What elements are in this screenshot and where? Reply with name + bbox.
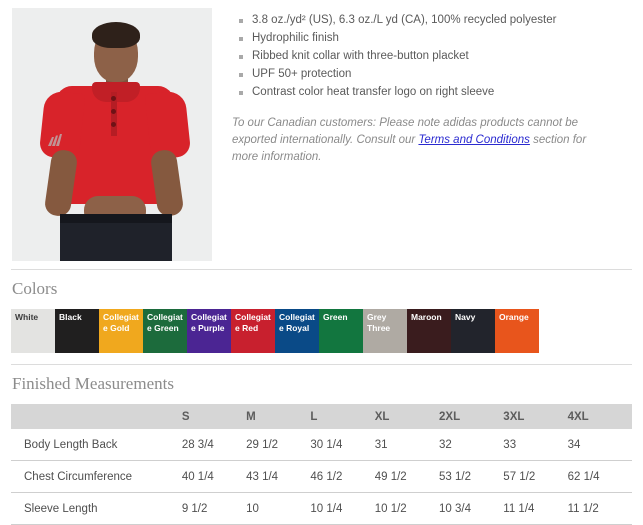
bullet-icon: [239, 19, 243, 23]
color-swatch-navy[interactable]: Navy: [451, 309, 495, 353]
bullet-icon: [239, 55, 243, 59]
cell-value: 49 1/2: [375, 461, 439, 493]
polo-button-3: [111, 122, 116, 127]
finished-measurements-table: S M L XL 2XL 3XL 4XL Body Length Back 28…: [11, 404, 632, 525]
cell-value: 57 1/2: [503, 461, 567, 493]
color-swatch-label: Maroon: [411, 312, 449, 323]
row-label: Chest Circumference: [11, 461, 182, 493]
measurements-heading: Finished Measurements: [12, 374, 643, 394]
column-header-s: S: [182, 404, 246, 429]
product-specs: 3.8 oz./yd² (US), 6.3 oz./L yd (CA), 100…: [212, 8, 643, 177]
cell-value: 43 1/4: [246, 461, 310, 493]
row-label: Sleeve Length: [11, 493, 182, 525]
row-label: Body Length Back: [11, 429, 182, 461]
color-swatch-label: Collegiate Gold: [103, 312, 141, 333]
cell-value: 10 3/4: [439, 493, 503, 525]
cell-value: 33: [503, 429, 567, 461]
table-row: Chest Circumference 40 1/4 43 1/4 46 1/2…: [11, 461, 632, 493]
color-swatch-row: White Black Collegiate Gold Collegiate G…: [11, 309, 643, 353]
column-header-measurement: [11, 404, 182, 429]
cell-value: 46 1/2: [310, 461, 374, 493]
cell-value: 11 1/2: [568, 493, 632, 525]
cell-value: 28 3/4: [182, 429, 246, 461]
column-header-m: M: [246, 404, 310, 429]
bullet-icon: [239, 37, 243, 41]
color-swatch-label: Collegiate Green: [147, 312, 185, 333]
color-swatch-label: White: [15, 312, 53, 323]
polo-button-1: [111, 96, 116, 101]
table-row: Sleeve Length 9 1/2 10 10 1/4 10 1/2 10 …: [11, 493, 632, 525]
cell-value: 11 1/4: [503, 493, 567, 525]
cell-value: 30 1/4: [310, 429, 374, 461]
color-swatch-label: Collegiate Royal: [279, 312, 317, 333]
terms-and-conditions-link[interactable]: Terms and Conditions: [418, 134, 529, 146]
cell-value: 62 1/4: [568, 461, 632, 493]
spec-item-text: Hydrophilic finish: [252, 32, 339, 44]
color-swatch-green[interactable]: Green: [319, 309, 363, 353]
column-header-2xl: 2XL: [439, 404, 503, 429]
cell-value: 31: [375, 429, 439, 461]
divider-above-measurements: [11, 364, 632, 365]
product-overview-section: 3.8 oz./yd² (US), 6.3 oz./L yd (CA), 100…: [0, 0, 643, 261]
color-swatch-maroon[interactable]: Maroon: [407, 309, 451, 353]
model-hair: [92, 22, 140, 48]
bullet-icon: [239, 73, 243, 77]
color-swatch-label: Collegiate Purple: [191, 312, 229, 333]
column-header-4xl: 4XL: [568, 404, 632, 429]
spec-item: Ribbed knit collar with three-button pla…: [232, 48, 631, 66]
color-swatch-collegiate-gold[interactable]: Collegiate Gold: [99, 309, 143, 353]
product-image[interactable]: [12, 8, 212, 261]
spec-item-text: Ribbed knit collar with three-button pla…: [252, 50, 469, 62]
polo-button-2: [111, 109, 116, 114]
color-swatch-white[interactable]: White: [11, 309, 55, 353]
cell-value: 32: [439, 429, 503, 461]
spec-item-text: 3.8 oz./yd² (US), 6.3 oz./L yd (CA), 100…: [252, 14, 556, 26]
bullet-icon: [239, 91, 243, 95]
cell-value: 53 1/2: [439, 461, 503, 493]
cell-value: 10: [246, 493, 310, 525]
spec-item: Hydrophilic finish: [232, 30, 631, 48]
spec-bullet-list: 3.8 oz./yd² (US), 6.3 oz./L yd (CA), 100…: [232, 12, 631, 102]
column-header-3xl: 3XL: [503, 404, 567, 429]
colors-heading: Colors: [12, 279, 643, 299]
color-swatch-collegiate-green[interactable]: Collegiate Green: [143, 309, 187, 353]
cell-value: 29 1/2: [246, 429, 310, 461]
canadian-customers-note: To our Canadian customers: Please note a…: [232, 115, 587, 166]
cell-value: 34: [568, 429, 632, 461]
spec-item-text: Contrast color heat transfer logo on rig…: [252, 86, 494, 98]
cell-value: 9 1/2: [182, 493, 246, 525]
spec-item: 3.8 oz./yd² (US), 6.3 oz./L yd (CA), 100…: [232, 12, 631, 30]
cell-value: 10 1/2: [375, 493, 439, 525]
color-swatch-label: Black: [59, 312, 97, 323]
color-swatch-label: Orange: [499, 312, 537, 323]
adidas-logo-icon: [48, 134, 62, 146]
color-swatch-orange[interactable]: Orange: [495, 309, 539, 353]
color-swatch-label: Grey Three: [367, 312, 405, 333]
column-header-xl: XL: [375, 404, 439, 429]
table-row: Body Length Back 28 3/4 29 1/2 30 1/4 31…: [11, 429, 632, 461]
divider-above-colors: [11, 269, 632, 270]
column-header-l: L: [310, 404, 374, 429]
color-swatch-collegiate-purple[interactable]: Collegiate Purple: [187, 309, 231, 353]
color-swatch-grey-three[interactable]: Grey Three: [363, 309, 407, 353]
color-swatch-collegiate-red[interactable]: Collegiate Red: [231, 309, 275, 353]
cell-value: 10 1/4: [310, 493, 374, 525]
spec-item: UPF 50+ protection: [232, 66, 631, 84]
color-swatch-label: Collegiate Red: [235, 312, 273, 333]
table-header-row: S M L XL 2XL 3XL 4XL: [11, 404, 632, 429]
color-swatch-label: Green: [323, 312, 361, 323]
color-swatch-collegiate-royal[interactable]: Collegiate Royal: [275, 309, 319, 353]
color-swatch-black[interactable]: Black: [55, 309, 99, 353]
spec-item-text: UPF 50+ protection: [252, 68, 351, 80]
spec-item: Contrast color heat transfer logo on rig…: [232, 84, 631, 102]
color-swatch-label: Navy: [455, 312, 493, 323]
model-belt: [60, 214, 172, 223]
cell-value: 40 1/4: [182, 461, 246, 493]
